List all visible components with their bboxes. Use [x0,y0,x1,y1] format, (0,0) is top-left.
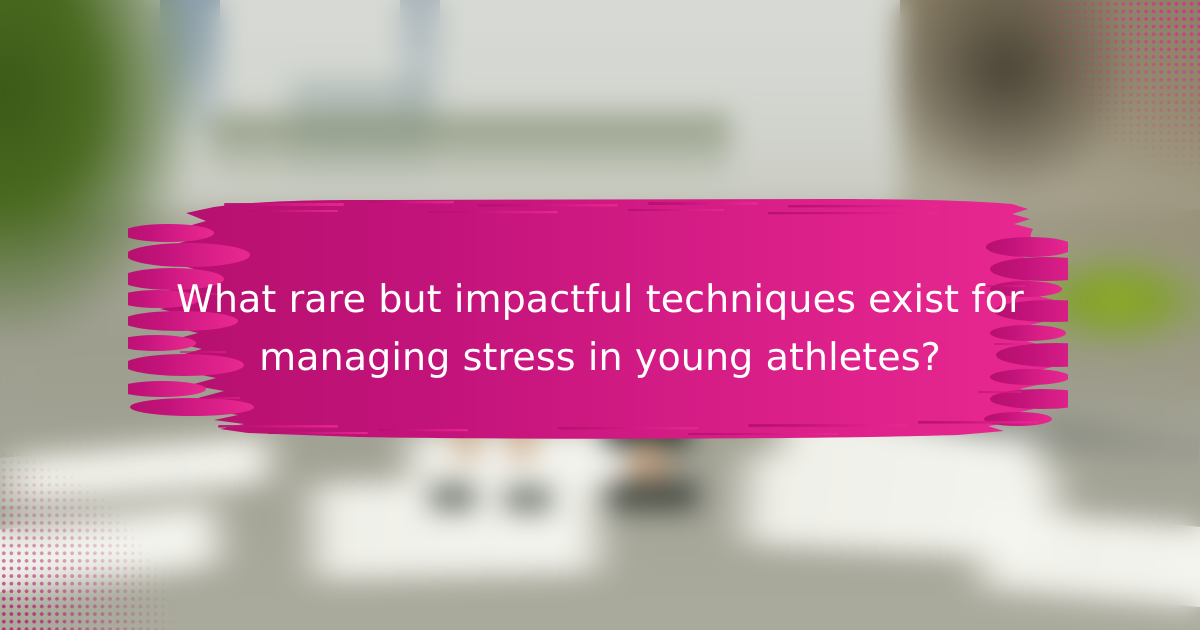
headline-text: What rare but impactful techniques exist… [150,270,1050,386]
social-card: What rare but impactful techniques exist… [0,0,1200,630]
